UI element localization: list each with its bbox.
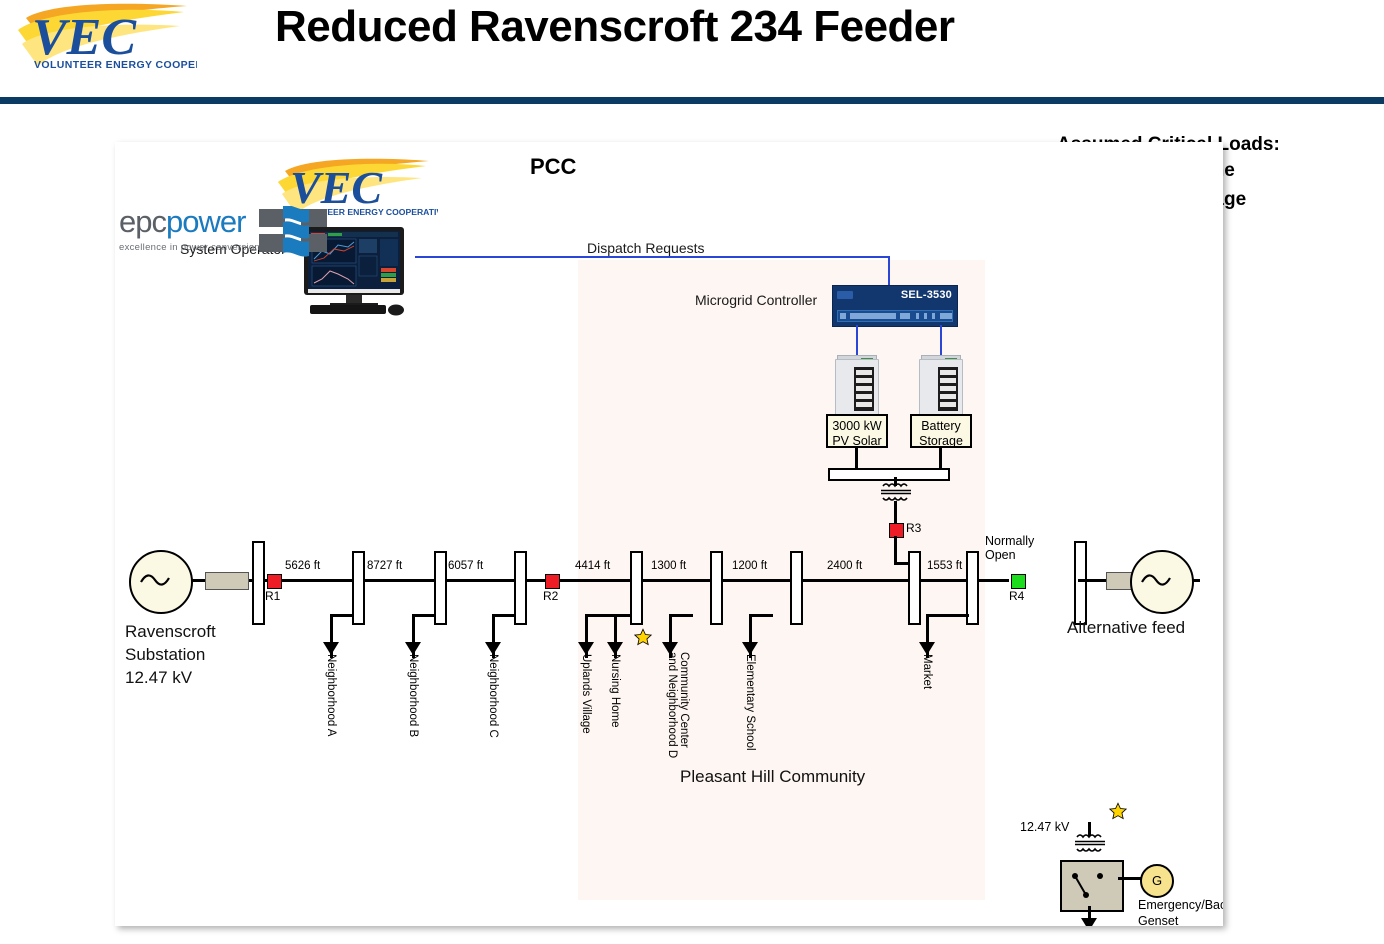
recloser-R2[interactable] bbox=[545, 574, 560, 589]
der-tie-drop bbox=[894, 536, 897, 564]
pv-solar-source-box: 3000 kW PV Solar bbox=[826, 414, 888, 448]
sel-3530-controller: SEL-3530 bbox=[832, 285, 958, 327]
substation-name-line1: Ravenscroft bbox=[125, 620, 216, 643]
load-label: Neighborhood A bbox=[325, 654, 337, 736]
load-label: Community Center bbox=[678, 652, 690, 748]
battery-source-box: Battery Storage bbox=[910, 414, 972, 448]
der-transformer-symbol bbox=[879, 483, 913, 503]
controller-comm-line-battery bbox=[940, 325, 942, 355]
tap-stub bbox=[669, 614, 693, 617]
segment-label: 6057 ft bbox=[448, 560, 483, 572]
bus-alternative bbox=[1074, 541, 1087, 625]
recloser-R4[interactable] bbox=[1011, 574, 1026, 589]
load-label: Market bbox=[921, 654, 933, 689]
emergency-genset-group: 12.47 kV G Emergency/Backup Genset bbox=[1020, 802, 1223, 922]
dispatch-link-line bbox=[415, 256, 890, 258]
generator-symbol: G bbox=[1140, 864, 1174, 898]
page-title: Reduced Ravenscroft 234 Feeder bbox=[275, 2, 955, 52]
inverter-module-rack bbox=[938, 367, 958, 411]
dispatch-requests-label: Dispatch Requests bbox=[587, 240, 705, 256]
substation-name-line2: Substation bbox=[125, 643, 216, 666]
alternative-feed-label: Alternative feed bbox=[1067, 618, 1185, 638]
normally-open-line1: Normally bbox=[985, 534, 1034, 548]
bus-substation bbox=[252, 541, 265, 625]
svg-text:VOLUNTEER ENERGY COOPERATIVE: VOLUNTEER ENERGY COOPERATIVE bbox=[34, 59, 197, 71]
microgrid-controller-label: Microgrid Controller bbox=[695, 292, 817, 308]
segment-label: 1553 ft bbox=[927, 560, 962, 572]
svg-text:VEC: VEC bbox=[32, 9, 137, 66]
transfer-switch-box[interactable] bbox=[1060, 860, 1124, 912]
load-label: Uplands Village bbox=[580, 654, 592, 734]
tap-stub bbox=[926, 614, 969, 617]
sel-brand-badge bbox=[837, 291, 853, 299]
controller-model-label: SEL-3530 bbox=[901, 289, 952, 301]
critical-load-star-icon bbox=[1108, 802, 1128, 822]
segment-label: 1200 ft bbox=[732, 560, 767, 572]
ravenscroft-source-symbol bbox=[129, 550, 193, 614]
recloser-R2-label: R2 bbox=[543, 589, 558, 603]
tap-stub bbox=[330, 614, 354, 617]
segment-label: 4414 ft bbox=[575, 560, 610, 572]
segment-label: 1300 ft bbox=[651, 560, 686, 572]
epc-wave-mark bbox=[259, 206, 327, 258]
critical-load-star-icon bbox=[633, 628, 653, 648]
load-label: Nursing Home bbox=[609, 654, 621, 728]
genset-tie-line bbox=[1118, 877, 1142, 880]
load-label: Elementary School bbox=[744, 654, 756, 751]
tap-stub bbox=[492, 614, 516, 617]
der-collector-bus bbox=[828, 468, 950, 481]
bus-5 bbox=[790, 551, 803, 625]
substation-transformer bbox=[205, 572, 249, 590]
recloser-R1[interactable] bbox=[267, 574, 282, 589]
tap-stub bbox=[412, 614, 436, 617]
genset-voltage-label: 12.47 kV bbox=[1020, 820, 1069, 834]
dispatch-link-drop bbox=[888, 256, 890, 288]
battery-inverter bbox=[919, 355, 961, 423]
tap-stub bbox=[585, 614, 632, 617]
load-label: Neighborhood C bbox=[487, 654, 499, 738]
pv-solar-line2: PV Solar bbox=[832, 434, 881, 448]
genset-name-line1: Emergency/Backup bbox=[1138, 898, 1223, 912]
pcc-label: PCC bbox=[530, 154, 576, 180]
pv-solar-line1: 3000 kW bbox=[832, 419, 881, 433]
load-arrow-icon bbox=[1081, 918, 1097, 926]
pv-riser bbox=[855, 448, 858, 470]
main-feeder-line bbox=[179, 579, 1009, 582]
alternative-feed-source-symbol bbox=[1130, 550, 1194, 614]
tap-stub bbox=[749, 614, 773, 617]
inverter-module-rack bbox=[854, 367, 874, 411]
header-divider bbox=[0, 97, 1384, 104]
controller-comm-line-pv bbox=[856, 325, 858, 355]
page-header: VEC VOLUNTEER ENERGY COOPERATIVE Reduced… bbox=[0, 0, 1384, 105]
recloser-R4-label: R4 bbox=[1009, 589, 1024, 603]
recloser-R1-label: R1 bbox=[265, 589, 280, 603]
one-line-diagram-canvas: VEC VOLUNTEER ENERGY COOPERATIVE System … bbox=[115, 142, 1223, 926]
genset-name-line2: Genset bbox=[1138, 914, 1178, 926]
pv-inverter bbox=[835, 355, 877, 423]
segment-label: 2400 ft bbox=[827, 560, 862, 572]
substation-voltage: 12.47 kV bbox=[125, 666, 216, 689]
pleasant-hill-community-label: Pleasant Hill Community bbox=[680, 767, 865, 787]
vec-logo: VEC VOLUNTEER ENERGY COOPERATIVE bbox=[12, 0, 197, 75]
recloser-R3-label: R3 bbox=[906, 521, 921, 535]
segment-label: 5626 ft bbox=[285, 560, 320, 572]
battery-line2: Storage bbox=[919, 434, 963, 448]
epc-word-1: epc bbox=[119, 204, 166, 239]
battery-line1: Battery bbox=[921, 419, 961, 433]
epcpower-logo: epcpower excellence in power conversion bbox=[119, 204, 327, 266]
load-label: Neighborhood B bbox=[407, 654, 419, 737]
bus-4 bbox=[710, 551, 723, 625]
substation-label: Ravenscroft Substation 12.47 kV bbox=[125, 620, 216, 689]
load-label2: and Neighborhood D bbox=[666, 652, 678, 758]
normally-open-line2: Open bbox=[985, 548, 1034, 562]
normally-open-annotation: Normally Open bbox=[985, 534, 1034, 562]
segment-label: 8727 ft bbox=[367, 560, 402, 572]
genset-transformer-symbol bbox=[1073, 834, 1107, 854]
controller-port-strip bbox=[837, 310, 953, 322]
battery-riser bbox=[939, 448, 942, 470]
epc-word-2: power bbox=[166, 204, 245, 239]
bus-der-tie bbox=[908, 551, 921, 625]
